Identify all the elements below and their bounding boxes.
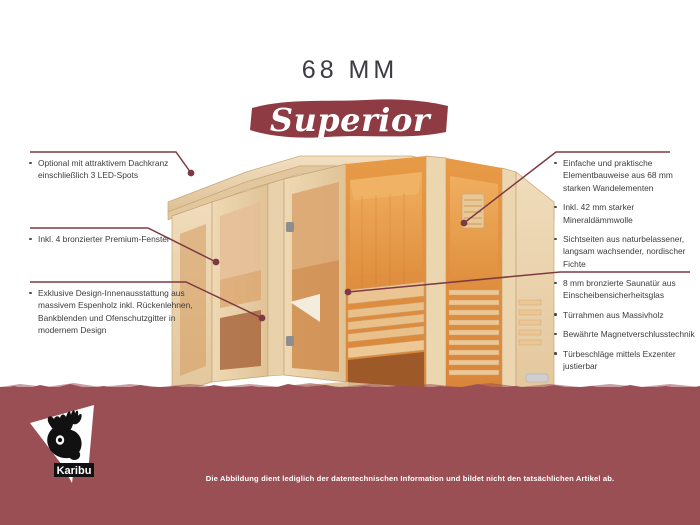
door-hinge-upper [286,222,294,232]
poster-canvas: 68 MM Superior Optional mit attraktivem … [0,0,700,525]
center-mullion [426,156,446,390]
list-item: Bewährte Magnetverschlusstechnik [552,328,700,340]
list-item: Optional mit attraktivem Dachkranz einsc… [27,157,187,182]
list-item: Türrahmen aus Massivholz [552,309,700,321]
corner-post-left [268,179,284,376]
list-item: Einfache und praktische Elementbauweise … [552,157,700,194]
disclaimer-text: Die Abbildung dient lediglich der datent… [0,474,700,483]
feature-group-door: 8 mm bronzierte Saunatür aus Einscheiben… [552,277,700,372]
page-title: 68 MM [0,56,700,85]
feature-group-interior: Exklusive Design-Innenausstattung aus ma… [27,287,199,337]
door-hinge-lower [286,336,294,346]
cabin-right-section [446,158,502,394]
band-torn-edge [0,377,700,395]
feature-group-construction: Einfache und praktische Elementbauweise … [552,157,700,270]
feature-group-roof: Optional mit attraktivem Dachkranz einsc… [27,157,187,182]
list-item: Inkl. 42 mm starker Mineraldämmwolle [552,201,700,226]
window-panel-left [212,184,268,382]
door-panel [284,164,346,382]
list-item: Türbeschläge mittels Exzenter justierbar [552,348,700,373]
wall-right-outer [516,172,554,400]
superior-logo-text: Superior [248,98,452,142]
right-mullion [502,168,516,396]
feature-group-windows: Inkl. 4 bronzierter Premium-Fenster [27,233,187,245]
heater-guard [462,194,484,228]
list-item: Inkl. 4 bronzierter Premium-Fenster [27,233,187,245]
slat-front-right [449,290,499,375]
superior-logo: Superior [248,96,452,142]
sauna-illustration [150,150,570,408]
sauna-svg [150,150,570,408]
list-item: Exklusive Design-Innenausstattung aus ma… [27,287,199,337]
list-item: 8 mm bronzierte Saunatür aus Einscheiben… [552,277,700,302]
list-item: Sichtseiten aus naturbelassener, langsam… [552,233,700,270]
